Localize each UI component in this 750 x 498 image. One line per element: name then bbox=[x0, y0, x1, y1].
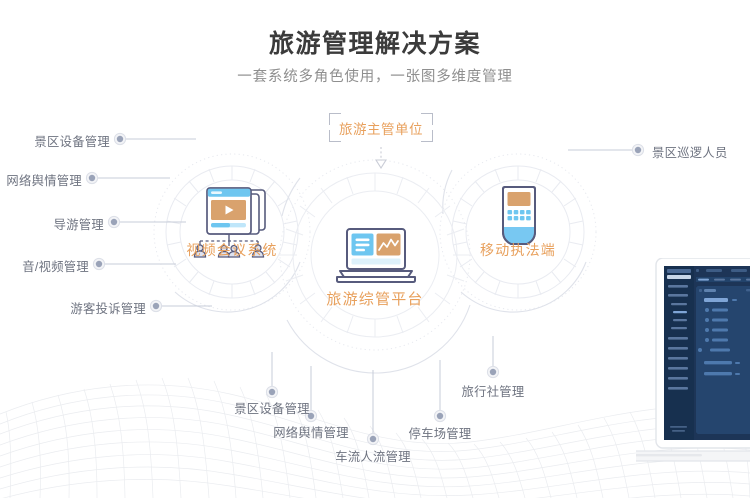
page-subtitle: 一套系统多角色使用，一张图多维度管理 bbox=[0, 65, 750, 86]
authority-arrow bbox=[376, 147, 386, 168]
label-bottom-0[interactable]: 景区设备管理 bbox=[227, 399, 317, 417]
page-title: 旅游管理解决方案 bbox=[0, 24, 750, 60]
label-left-4[interactable]: 游客投诉管理 bbox=[0, 299, 146, 317]
label-left-0[interactable]: 景区设备管理 bbox=[0, 132, 110, 150]
label-right-0[interactable]: 景区巡逻人员 bbox=[652, 143, 728, 161]
mobile-enforcement-caption: 移动执法端 bbox=[458, 240, 578, 260]
authority-label: 旅游主管单位 bbox=[329, 113, 433, 142]
video-conference-caption: 视频会议系统 bbox=[167, 240, 297, 260]
authority-box[interactable]: 旅游主管单位 bbox=[329, 113, 433, 142]
platform-caption: 旅游综管平台 bbox=[310, 288, 440, 309]
label-bottom-4[interactable]: 旅行社管理 bbox=[448, 382, 538, 400]
label-left-1[interactable]: 网络舆情管理 bbox=[0, 171, 82, 189]
label-bottom-3[interactable]: 停车场管理 bbox=[395, 424, 485, 442]
label-left-3[interactable]: 音/视频管理 bbox=[0, 257, 89, 275]
infographic-canvas: 旅游管理解决方案 一套系统多角色使用，一张图多维度管理 bbox=[0, 0, 750, 498]
label-left-2[interactable]: 导游管理 bbox=[0, 215, 104, 233]
laptop-screenshot-mockup bbox=[636, 258, 750, 478]
label-bottom-1[interactable]: 网络舆情管理 bbox=[266, 423, 356, 441]
laptop-dashboard-icon[interactable] bbox=[335, 228, 417, 286]
label-bottom-2[interactable]: 车流人流管理 bbox=[328, 447, 418, 465]
